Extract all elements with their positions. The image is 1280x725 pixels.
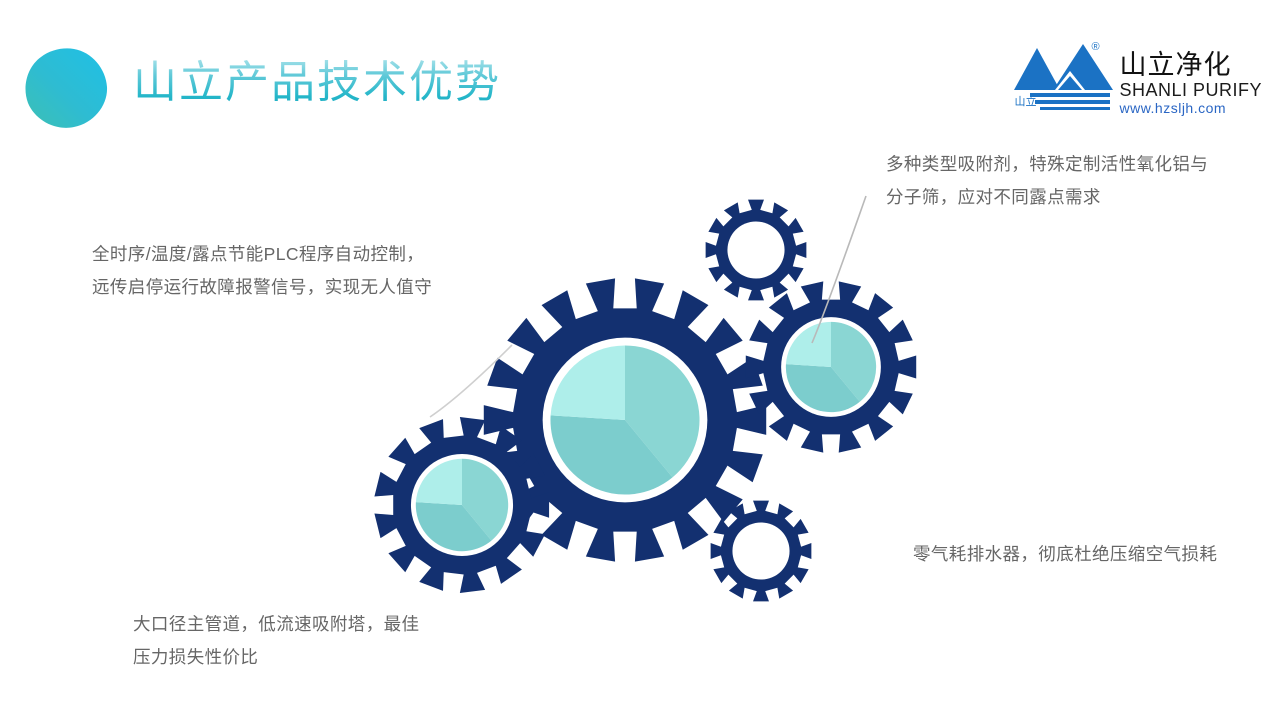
decorative-blob — [22, 47, 108, 129]
callout-zero-air-loss: 零气耗排水器，彻底杜绝压缩空气损耗 — [913, 538, 1233, 571]
logo-name-en: SHANLI PURIFY — [1119, 80, 1262, 100]
logo-website: www.hzsljh.com — [1119, 100, 1262, 117]
callout-pipeline: 大口径主管道，低流速吸附塔，最佳压力损失性价比 — [133, 608, 433, 674]
top-small-gear-hub — [727, 221, 784, 278]
registered-mark-icon: ® — [1091, 41, 1099, 53]
lower-left-gear-ring — [411, 454, 513, 556]
logo-name-cn: 山立净化 — [1119, 50, 1262, 80]
right-gear-pie-slice-a — [831, 322, 876, 402]
leader-line-left — [430, 345, 512, 417]
main-gear-pie-slice-a — [625, 345, 700, 477]
main-gear-pie-slice-b — [550, 415, 672, 494]
lower-left-gear-pie-slice-b — [416, 502, 492, 551]
right-gear-ring — [781, 317, 881, 417]
main-gear — [484, 278, 766, 561]
lower-left-gear-pie-slice-c — [416, 459, 462, 505]
callout-adsorbent: 多种类型吸附剂，特殊定制活性氧化铝与分子筛，应对不同露点需求 — [886, 148, 1216, 214]
lower-left-gear-pie-slice-a — [462, 459, 508, 541]
brand-logo: ® 山立 山立净化 SHANLI PURIFY www.hzsljh.com — [1013, 38, 1262, 112]
bottom-small-gear-hub — [732, 522, 789, 579]
main-gear-pie-slice-c — [551, 345, 625, 420]
slide-root: 山立产品技术优势 ® 山立 山立净化 SHANLI PURIFY www.hzs… — [0, 0, 1280, 720]
right-gear-pie-slice-b — [786, 364, 860, 412]
leader-line-right — [812, 196, 866, 343]
right-gear — [746, 281, 916, 452]
lower-left-gear — [374, 417, 549, 593]
logo-mountain-icon: ® 山立 — [1013, 38, 1117, 110]
top-small-gear — [706, 200, 807, 301]
logo-text-block: 山立净化 SHANLI PURIFY www.hzsljh.com — [1119, 38, 1262, 117]
logo-mark-label: 山立 — [1014, 93, 1036, 109]
main-gear-ring — [543, 338, 708, 503]
page-title: 山立产品技术优势 — [133, 52, 501, 114]
callout-plc-control: 全时序/温度/露点节能PLC程序自动控制，远传启停运行故障报警信号，实现无人值守 — [92, 238, 442, 304]
bottom-small-gear — [711, 501, 812, 602]
right-gear-pie-slice-c — [786, 322, 831, 367]
